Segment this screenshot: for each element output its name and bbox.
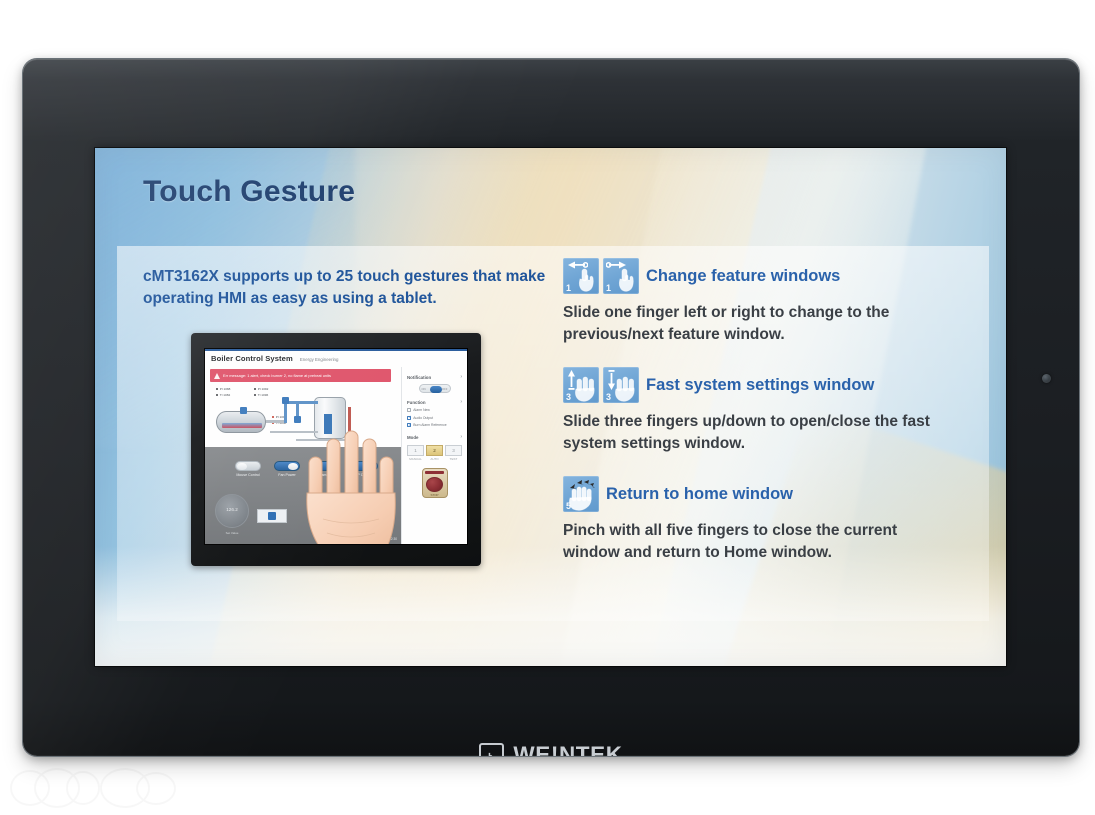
hmi-header: Boiler Control System Energy Engineering — [211, 354, 463, 367]
hmi-checkbox-item[interactable]: Burn Alarm Reference — [407, 423, 462, 427]
intro-text: cMT3162X supports up to 25 touch gesture… — [143, 266, 563, 311]
toggle-on-label: ON — [422, 387, 426, 391]
gesture-tile: 3 — [603, 367, 639, 403]
hmi-demo-device: Boiler Control System Energy Engineering… — [191, 333, 481, 566]
gesture-item: 1 — [563, 258, 963, 346]
hmi-demo-screen: Boiler Control System Energy Engineering… — [205, 349, 467, 544]
gesture-tiles: 5 — [563, 476, 599, 512]
gesture-label: Fast system settings window — [646, 376, 874, 395]
hmi-mode-option[interactable]: 3 — [445, 445, 462, 456]
checkbox-checked-icon[interactable] — [407, 416, 411, 420]
gesture-tile-count: 5 — [566, 502, 571, 511]
hmi-switch-label: Mouse Control — [235, 473, 261, 477]
hmi-mode-option[interactable]: 1 — [407, 445, 424, 456]
gesture-description: Pinch with all five fingers to close the… — [563, 520, 953, 564]
hmi-gauge: 126.2 Set Value — [215, 494, 249, 528]
gesture-tile-count: 3 — [566, 393, 571, 402]
gesture-header: 5 Return to home window — [563, 476, 963, 512]
hand-cursor-icon — [485, 752, 498, 757]
hmi-switch-label: Fan Power — [274, 473, 300, 477]
five-finger-hand-overlay-icon — [301, 423, 409, 544]
one-finger-hand-icon — [614, 267, 638, 293]
screenshot-stage: Touch Gesture cMT3162X supports up to 25… — [0, 0, 1095, 815]
three-finger-hand-icon — [572, 376, 598, 402]
hmi-mode-option-selected[interactable]: 2 — [426, 445, 443, 456]
hmi-mode-captions: MANUAL AUTO TEST — [407, 457, 462, 461]
hmi-checkbox-label: Alarm New — [413, 408, 430, 412]
gesture-tile: 1 — [603, 258, 639, 294]
gesture-tile-count: 1 — [566, 284, 571, 293]
one-finger-hand-icon — [574, 267, 598, 293]
gesture-tile: 5 — [563, 476, 599, 512]
hmi-checkbox-label: Burn Alarm Reference — [413, 423, 446, 427]
gesture-item: 3 — [563, 367, 963, 455]
hmi-indicator-tile[interactable] — [257, 509, 287, 523]
hmi-display-screen[interactable]: Touch Gesture cMT3162X supports up to 25… — [95, 148, 1006, 666]
estop-cap-icon — [426, 477, 443, 492]
alarm-triangle-icon — [214, 373, 220, 379]
estop-label: STOP — [430, 493, 438, 497]
gesture-list: 1 — [563, 258, 963, 585]
gesture-item: 5 Return to home window Pinch with all f… — [563, 476, 963, 564]
hmi-checkbox-item[interactable]: Audio Output — [407, 416, 462, 420]
hmi-alarm-banner[interactable]: Err message: 1 alert, check burner 2, no… — [210, 369, 391, 382]
hmi-title: Boiler Control System — [211, 354, 293, 363]
toggle-knob-icon — [430, 386, 442, 393]
hmi-mode-selector[interactable]: 1 2 3 — [407, 445, 462, 456]
gesture-description: Slide one finger left or right to change… — [563, 302, 953, 346]
hmi-top-accent — [205, 349, 467, 351]
hmi-notification-toggle[interactable]: ON OFF — [419, 384, 451, 393]
gesture-description: Slide three fingers up/down to open/clos… — [563, 411, 953, 455]
hmi-checkbox-item[interactable]: Alarm New — [407, 408, 462, 412]
hmi-sidebar: Notification ON OFF Function Alarm New — [401, 367, 467, 544]
status-led-icon — [1042, 374, 1051, 383]
toggle-switch-icon[interactable] — [274, 461, 300, 471]
hmi-subtitle: Energy Engineering — [300, 357, 339, 362]
page-title: Touch Gesture — [143, 175, 355, 209]
hmi-mode-caption: AUTO — [426, 457, 443, 461]
gesture-label: Change feature windows — [646, 267, 840, 286]
hmi-mode-header[interactable]: Mode — [407, 434, 462, 440]
background-watermark — [8, 766, 198, 810]
gesture-tiles: 1 — [563, 258, 639, 294]
hmi-mode-caption: TEST — [445, 457, 462, 461]
gesture-tile: 3 — [563, 367, 599, 403]
pid-label: TI 1096 — [254, 393, 268, 397]
hmi-gauge-label: Set Value — [216, 531, 248, 535]
brand-name: WE!NTEK — [513, 742, 622, 756]
gesture-header: 3 — [563, 367, 963, 403]
hmi-alarm-text: Err message: 1 alert, check burner 2, no… — [223, 373, 331, 378]
gesture-header: 1 — [563, 258, 963, 294]
toggle-switch-icon[interactable] — [235, 461, 261, 471]
pid-label: PI 1092 — [254, 387, 268, 391]
pid-label: PI 1088 — [216, 387, 230, 391]
gesture-tiles: 3 — [563, 367, 639, 403]
gesture-label: Return to home window — [606, 485, 793, 504]
checkbox-icon[interactable] — [407, 408, 411, 412]
pid-boiler — [216, 411, 266, 433]
hmi-notification-header[interactable]: Notification — [407, 374, 462, 380]
toggle-off-label: OFF — [442, 387, 448, 391]
gesture-tile-count: 3 — [606, 393, 611, 402]
gesture-tile-count: 1 — [606, 284, 611, 293]
hmi-function-header[interactable]: Function — [407, 399, 462, 405]
hmi-mode-caption: MANUAL — [407, 457, 424, 461]
hmi-gauge-value: 126.2 — [216, 507, 248, 512]
hmi-device-bezel: Touch Gesture cMT3162X supports up to 25… — [23, 59, 1079, 756]
three-finger-hand-icon — [612, 376, 638, 402]
pid-label: TI 1082 — [216, 393, 230, 397]
hmi-switch[interactable]: Fan Power — [274, 461, 300, 477]
brand-logo: WE!NTEK — [23, 742, 1079, 756]
weintek-touch-logo-icon — [479, 743, 504, 757]
hmi-switch[interactable]: Mouse Control — [235, 461, 261, 477]
hmi-checkbox-label: Audio Output — [413, 416, 433, 420]
gesture-tile: 1 — [563, 258, 599, 294]
hmi-emergency-stop-button[interactable]: STOP — [422, 468, 448, 498]
